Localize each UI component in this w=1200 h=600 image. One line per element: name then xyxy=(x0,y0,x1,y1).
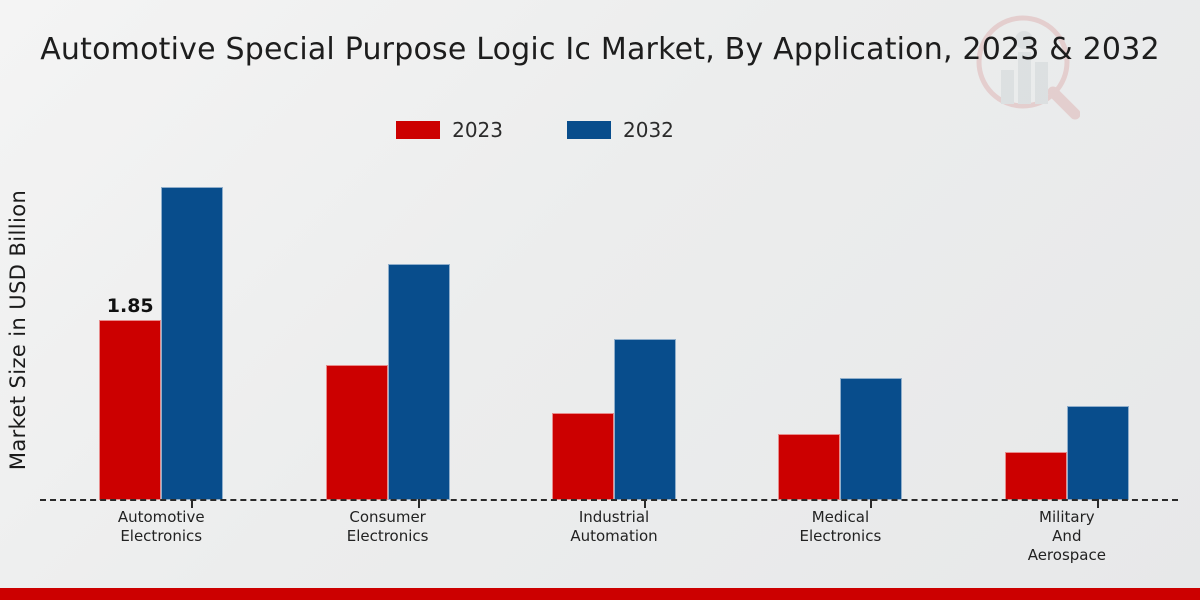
legend-item-2032[interactable]: 2032 xyxy=(567,118,674,142)
legend-label-2023: 2023 xyxy=(452,118,503,142)
bar-2032[interactable] xyxy=(614,339,676,500)
category-label: IndustrialAutomation xyxy=(501,508,727,565)
legend-swatch-2032 xyxy=(567,121,611,139)
bar-group xyxy=(501,150,727,500)
bar-2032[interactable] xyxy=(388,264,450,500)
watermark-logo xyxy=(975,14,1080,124)
bar-2023[interactable] xyxy=(1005,452,1067,500)
bar-2023[interactable] xyxy=(326,365,388,500)
bar-group xyxy=(274,150,500,500)
legend-label-2032: 2032 xyxy=(623,118,674,142)
category-label: MilitaryAndAerospace xyxy=(954,508,1180,565)
bar-2023[interactable] xyxy=(778,434,840,500)
chart-plot-area: 1.85 xyxy=(48,150,1180,500)
category-label: AutomotiveElectronics xyxy=(48,508,274,565)
x-axis-baseline xyxy=(40,499,1178,501)
bar-2032[interactable] xyxy=(840,378,902,501)
chart-title: Automotive Special Purpose Logic Ic Mark… xyxy=(0,32,1200,67)
legend-swatch-2023 xyxy=(396,121,440,139)
category-label: MedicalElectronics xyxy=(727,508,953,565)
category-label: ConsumerElectronics xyxy=(274,508,500,565)
legend-item-2023[interactable]: 2023 xyxy=(396,118,503,142)
footer-accent-bar xyxy=(0,588,1200,600)
chart-legend: 2023 2032 xyxy=(0,118,1200,142)
y-axis-label: Market Size in USD Billion xyxy=(2,160,34,500)
y-axis-label-text: Market Size in USD Billion xyxy=(6,190,30,470)
x-axis-categories: AutomotiveElectronics ConsumerElectronic… xyxy=(48,508,1180,565)
bar-group xyxy=(727,150,953,500)
bar-group xyxy=(954,150,1180,500)
bar-value-label: 1.85 xyxy=(107,295,154,317)
bar-2023[interactable]: 1.85 xyxy=(99,320,161,500)
bar-2032[interactable] xyxy=(1067,406,1129,500)
bar-2023[interactable] xyxy=(552,413,614,501)
bar-group: 1.85 xyxy=(48,150,274,500)
bar-2032[interactable] xyxy=(161,187,223,500)
